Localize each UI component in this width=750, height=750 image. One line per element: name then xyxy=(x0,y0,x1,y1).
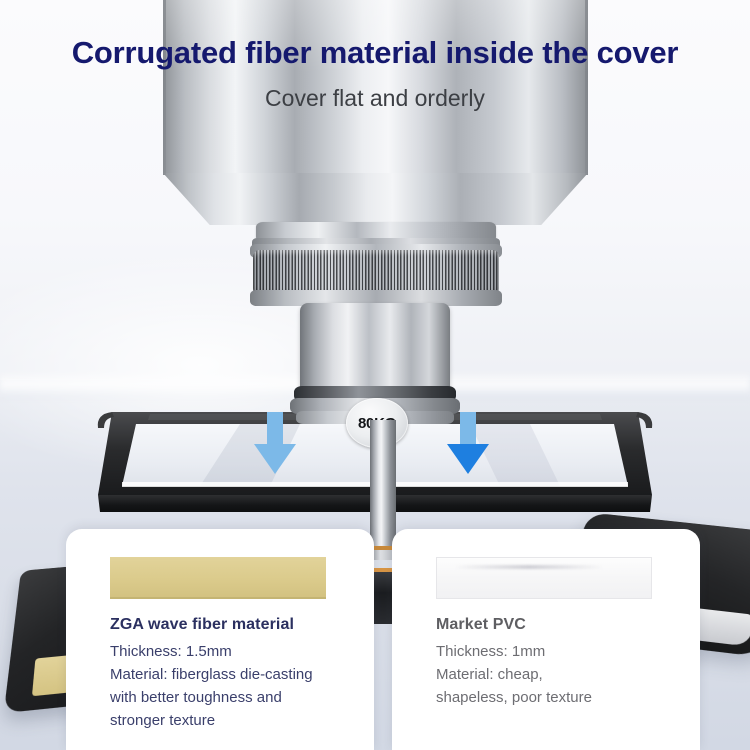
arrow-stem xyxy=(267,412,283,446)
info-card-line: Material: fiberglass die-casting xyxy=(110,663,366,686)
info-card-line: Material: cheap, xyxy=(436,663,692,686)
info-card-line: shapeless, poor texture xyxy=(436,686,692,709)
info-card-line: stronger texture xyxy=(110,709,366,732)
info-card-title: Market PVC xyxy=(436,616,686,634)
info-card-body: Thickness: 1.5mm Material: fiberglass di… xyxy=(110,640,366,732)
arrow-stem xyxy=(460,412,476,446)
white-pvc-swatch xyxy=(436,557,652,599)
info-card-line: Thickness: 1mm xyxy=(436,640,692,663)
pressure-arrow-right-icon xyxy=(447,412,489,474)
info-card-pvc: Market PVC Thickness: 1mm Material: chea… xyxy=(392,529,700,750)
arrow-head xyxy=(447,444,489,474)
info-card-title: ZGA wave fiber material xyxy=(110,616,360,634)
page-title: Corrugated fiber material inside the cov… xyxy=(0,35,750,71)
product-marketing-image: 80KG ZGA wave fiber material Thickness: … xyxy=(0,0,750,750)
info-card-body: Thickness: 1mm Material: cheap, shapeles… xyxy=(436,640,692,709)
press-shaft xyxy=(370,420,396,550)
info-card-zga: ZGA wave fiber material Thickness: 1.5mm… xyxy=(66,529,374,750)
info-card-line: with better toughness and xyxy=(110,686,366,709)
gold-fiber-swatch xyxy=(110,557,326,599)
page-subtitle: Cover flat and orderly xyxy=(0,85,750,112)
info-card-line: Thickness: 1.5mm xyxy=(110,640,366,663)
arrow-head xyxy=(254,444,296,474)
pressure-arrow-left-icon xyxy=(254,412,296,474)
